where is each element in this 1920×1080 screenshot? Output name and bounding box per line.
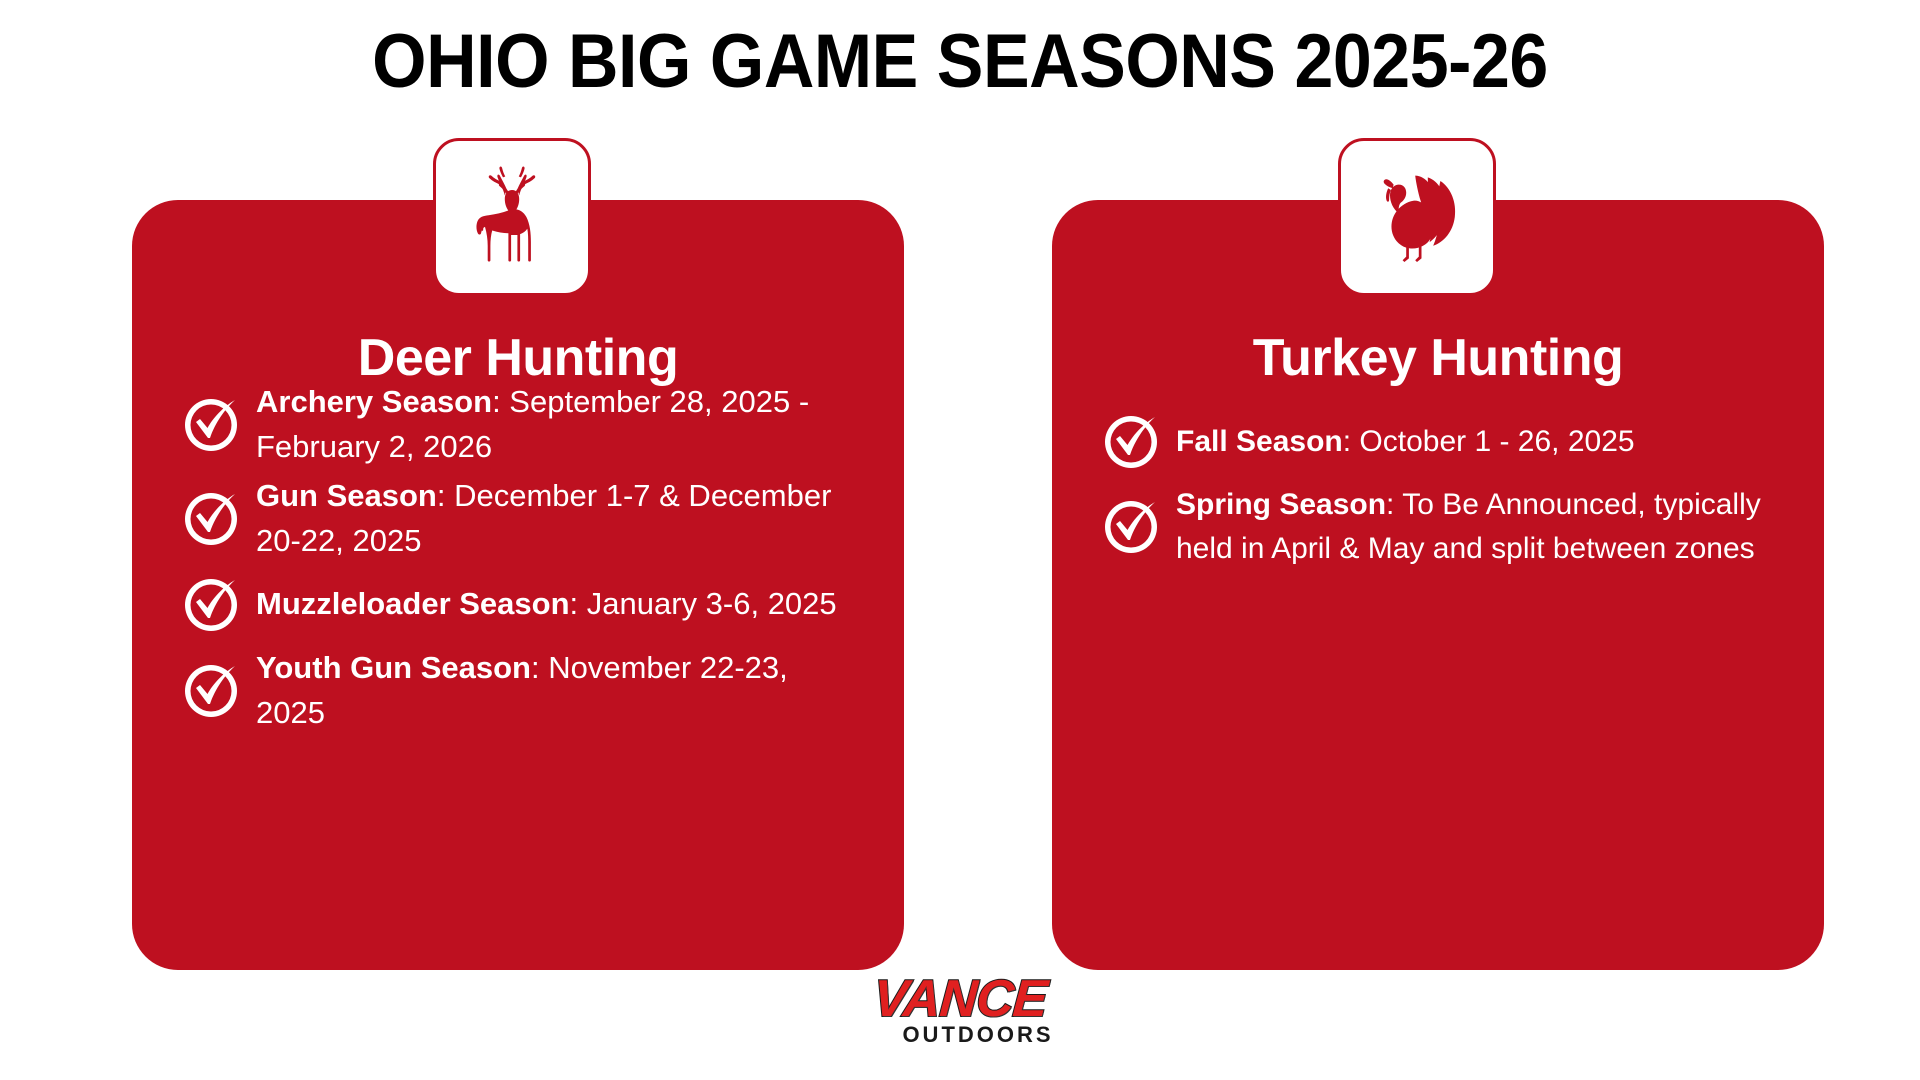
list-item-text: Archery Season: September 28, 2025 - Feb… [256,380,862,470]
infographic-root: OHIO BIG GAME SEASONS 2025-26 Deer Hunti… [0,0,1920,1080]
list-item-separator: : [437,478,454,513]
list-item: Youth Gun Season: November 22-23, 2025 [174,646,862,736]
check-circle-icon [174,388,248,462]
list-item-label: Fall Season [1176,425,1343,458]
check-circle-icon [174,654,248,728]
list-item-text: Gun Season: December 1-7 & December 20-2… [256,474,862,564]
deer-bullet-list: Archery Season: September 28, 2025 - Feb… [174,380,862,740]
list-item-separator: : [1386,488,1402,521]
list-item-label: Muzzleloader Season [256,586,570,621]
list-item-text: Muzzleloader Season: January 3-6, 2025 [256,582,862,627]
list-item-separator: : [1343,425,1360,458]
list-item-label: Spring Season [1176,488,1386,521]
check-circle-icon [1094,405,1168,479]
card-turkey-hunting: Turkey Hunting Fall Season: October 1 - … [1052,200,1824,970]
list-item: Archery Season: September 28, 2025 - Feb… [174,380,862,470]
list-item: Spring Season: To Be Announced, typicall… [1094,483,1782,570]
logo-brand: VANCE [843,975,1076,1024]
badge-deer [433,138,591,296]
list-item-text: Fall Season: October 1 - 26, 2025 [1176,420,1782,464]
check-circle-icon [1094,490,1168,564]
check-circle-icon [174,482,248,556]
list-item-text: Spring Season: To Be Announced, typicall… [1176,483,1782,570]
list-item: Fall Season: October 1 - 26, 2025 [1094,405,1782,479]
list-item-separator: : [531,650,548,685]
check-circle-icon [174,568,248,642]
list-item: Muzzleloader Season: January 3-6, 2025 [174,568,862,642]
list-item-value: January 3-6, 2025 [587,586,837,621]
vance-outdoors-logo: VANCE OUTDOORS [845,975,1075,1067]
list-item-separator: : [570,586,587,621]
list-item-label: Gun Season [256,478,437,513]
page-title: OHIO BIG GAME SEASONS 2025-26 [77,18,1843,105]
turkey-bullet-list: Fall Season: October 1 - 26, 2025 Spring… [1094,405,1782,574]
deer-icon [458,163,566,271]
list-item-label: Archery Season [256,384,492,419]
list-item-text: Youth Gun Season: November 22-23, 2025 [256,646,862,736]
card-turkey-heading: Turkey Hunting [1052,328,1824,388]
card-deer-heading: Deer Hunting [132,328,904,388]
list-item-value: October 1 - 26, 2025 [1359,425,1634,458]
list-item: Gun Season: December 1-7 & December 20-2… [174,474,862,564]
card-deer-hunting: Deer Hunting Archery Season: September 2… [132,200,904,970]
turkey-icon [1363,163,1471,271]
list-item-label: Youth Gun Season [256,650,531,685]
badge-turkey [1338,138,1496,296]
list-item-separator: : [492,384,509,419]
